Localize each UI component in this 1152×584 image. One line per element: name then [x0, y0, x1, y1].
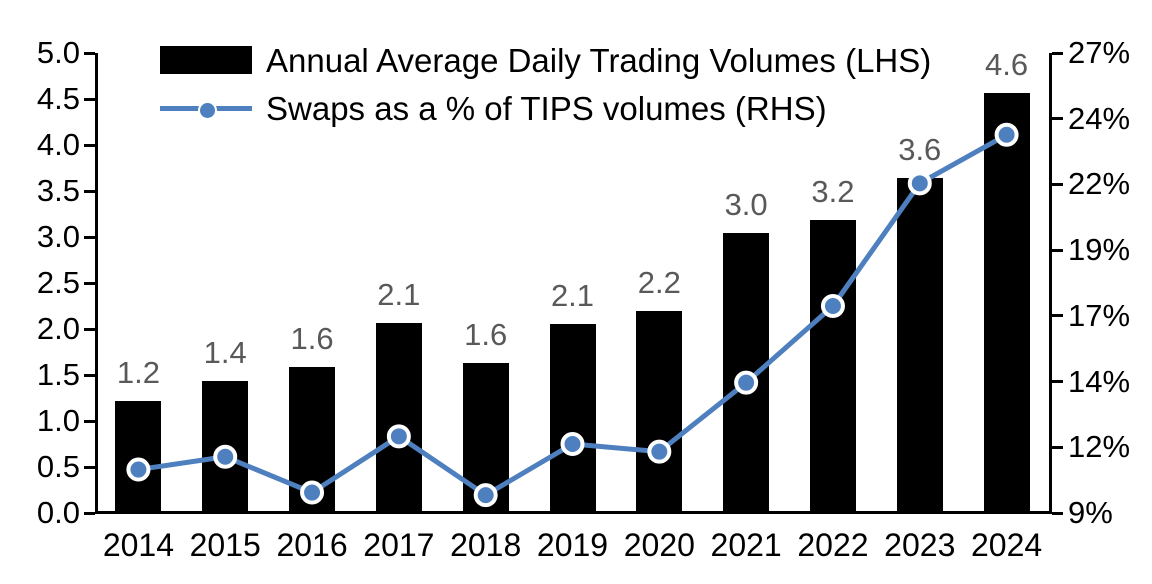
legend-label-line: Swaps as a % of TIPS volumes (RHS) [266, 92, 827, 125]
left-tick-label: 1.0 [37, 405, 80, 436]
left-tick [84, 98, 95, 101]
right-tick-label: 22% [1068, 168, 1130, 199]
bar-value-label: 1.6 [436, 319, 536, 350]
right-tick [1052, 117, 1063, 120]
bar[interactable] [636, 311, 682, 513]
left-tick-label: 5.0 [37, 37, 80, 68]
right-tick-label: 27% [1068, 37, 1130, 68]
bar-value-label: 1.2 [88, 357, 188, 388]
legend-item-line[interactable]: Swaps as a % of TIPS volumes (RHS) [160, 84, 931, 132]
x-axis-label: 2022 [783, 527, 883, 564]
x-axis-label: 2015 [175, 527, 275, 564]
left-tick [84, 282, 95, 285]
chart-legend: Annual Average Daily Trading Volumes (LH… [160, 36, 931, 132]
chart-container: Annual Average Daily Trading Volumes (LH… [0, 0, 1152, 584]
legend-label-bars: Annual Average Daily Trading Volumes (LH… [266, 44, 931, 77]
left-tick-label: 0.0 [37, 497, 80, 528]
x-axis-label: 2014 [88, 527, 188, 564]
bar-value-label: 1.4 [175, 337, 275, 368]
left-tick [84, 328, 95, 331]
bar[interactable] [202, 381, 248, 513]
bar[interactable] [463, 363, 509, 513]
x-axis-label: 2016 [262, 527, 362, 564]
x-axis-label: 2019 [523, 527, 623, 564]
x-axis-label: 2020 [609, 527, 709, 564]
left-tick-label: 4.5 [37, 83, 80, 114]
right-tick [1052, 512, 1063, 515]
bar-value-label: 3.2 [783, 176, 883, 207]
right-tick-label: 12% [1068, 431, 1130, 462]
left-tick-label: 2.0 [37, 313, 80, 344]
x-axis-label: 2018 [436, 527, 536, 564]
bar[interactable] [550, 324, 596, 513]
right-tick [1052, 183, 1063, 186]
right-tick-label: 19% [1068, 234, 1130, 265]
right-tick [1052, 314, 1063, 317]
bar[interactable] [810, 220, 856, 513]
x-axis-label: 2017 [349, 527, 449, 564]
right-tick [1052, 446, 1063, 449]
left-tick-label: 3.5 [37, 175, 80, 206]
bar-value-label: 2.1 [523, 280, 623, 311]
left-tick [84, 420, 95, 423]
bar-value-label: 3.0 [696, 189, 796, 220]
left-tick-label: 0.5 [37, 451, 80, 482]
bar[interactable] [376, 323, 422, 513]
left-tick-label: 4.0 [37, 129, 80, 160]
right-tick-label: 14% [1068, 366, 1130, 397]
left-tick-label: 1.5 [37, 359, 80, 390]
left-tick-label: 2.5 [37, 267, 80, 298]
bar-value-label: 4.6 [957, 49, 1057, 80]
left-tick [84, 466, 95, 469]
bar-value-label: 3.6 [870, 134, 970, 165]
bar[interactable] [289, 367, 335, 513]
x-axis-label: 2021 [696, 527, 796, 564]
bar[interactable] [984, 93, 1030, 513]
bar-value-label: 2.1 [349, 279, 449, 310]
legend-item-bars[interactable]: Annual Average Daily Trading Volumes (LH… [160, 36, 931, 84]
left-tick [84, 512, 95, 515]
left-tick [84, 144, 95, 147]
bar-value-label: 2.2 [609, 267, 709, 298]
right-tick-label: 9% [1068, 497, 1113, 528]
x-axis-label: 2024 [957, 527, 1057, 564]
bar-value-label: 1.6 [262, 323, 362, 354]
right-tick-label: 24% [1068, 103, 1130, 134]
left-tick [84, 236, 95, 239]
bar[interactable] [115, 401, 161, 513]
left-tick [84, 52, 95, 55]
x-axis-label: 2023 [870, 527, 970, 564]
bar[interactable] [897, 178, 943, 513]
right-tick [1052, 249, 1063, 252]
left-tick [84, 190, 95, 193]
right-tick-label: 17% [1068, 300, 1130, 331]
line-marker-swatch-icon [160, 94, 252, 122]
left-axis-line [95, 53, 98, 514]
bar[interactable] [723, 233, 769, 513]
right-tick [1052, 380, 1063, 383]
bar-swatch-icon [160, 46, 252, 74]
left-tick-label: 3.0 [37, 221, 80, 252]
